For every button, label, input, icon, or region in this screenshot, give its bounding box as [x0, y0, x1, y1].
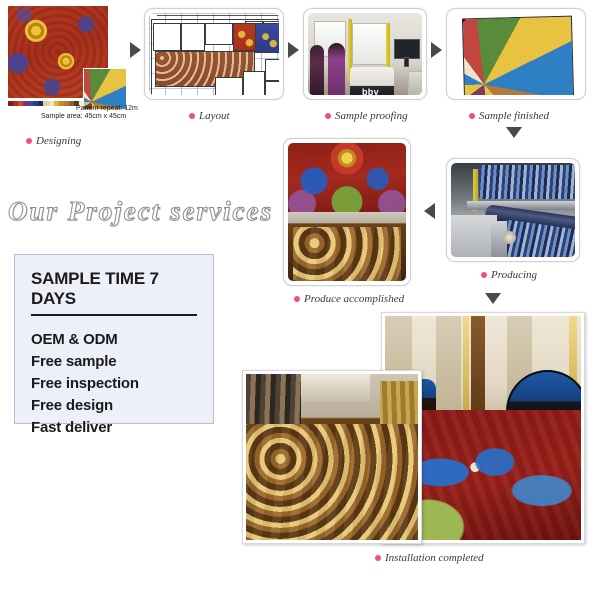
list-item: Free sample — [31, 351, 197, 373]
machine-logo-text: bby — [362, 87, 379, 95]
arrow-layout-to-sample-proofing — [288, 42, 299, 58]
carpet-corridor-photo — [288, 212, 406, 281]
bullet-dot-icon — [481, 272, 487, 278]
bullet-dot-icon — [375, 555, 381, 561]
sample-time-panel: SAMPLE TIME 7 DAYS OEM & ODM Free sample… — [14, 254, 214, 424]
list-item: Free inspection — [31, 373, 197, 395]
arrow-designing-to-layout — [130, 42, 141, 58]
photo-sample-proofing: bby — [303, 8, 427, 100]
loom-machine-photo — [451, 163, 575, 257]
color-swatch-strip — [8, 101, 84, 106]
project-services-infographic: Pattern repeat: 12m Sample area: 45cm x … — [0, 0, 600, 600]
list-item: Free design — [31, 395, 197, 417]
caption-designing: Designing — [26, 136, 81, 147]
photo-produce-accomplished — [283, 138, 411, 286]
photo-designing-swatch — [83, 68, 127, 110]
caption-sample-finished: Sample finished — [469, 111, 549, 122]
arrow-finished-to-producing — [506, 127, 522, 138]
caption-layout: Layout — [189, 111, 230, 122]
bullet-dot-icon — [325, 113, 331, 119]
bullet-dot-icon — [294, 296, 300, 302]
caption-producing: Producing — [481, 270, 537, 281]
photo-layout — [144, 8, 284, 100]
list-item: OEM & ODM — [31, 329, 197, 351]
bullet-dot-icon — [26, 138, 32, 144]
proofing-room-photo: bby — [308, 13, 422, 95]
floor-plan-drawing — [149, 13, 279, 95]
list-item: Fast deliver — [31, 417, 197, 439]
service-list: OEM & ODM Free sample Free inspection Fr… — [31, 329, 197, 439]
bullet-dot-icon — [469, 113, 475, 119]
arrow-proofing-to-finished — [431, 42, 442, 58]
page-title: Our Project services — [8, 196, 273, 227]
caption-produce-accomplished: Produce accomplished — [294, 294, 404, 305]
geometric-carpet-sample — [462, 16, 574, 95]
bullet-dot-icon — [189, 113, 195, 119]
caption-installation: Installation completed — [375, 553, 484, 564]
carpet-closeup-photo — [288, 143, 406, 212]
corridor-carpet-photo — [246, 374, 418, 540]
photo-sample-finished — [446, 8, 586, 100]
caption-sample-proofing: Sample proofing — [325, 111, 408, 122]
arrow-producing-to-installation — [485, 293, 501, 304]
photo-installation-corridor — [242, 370, 422, 544]
photo-producing — [446, 158, 580, 262]
sample-time-title: SAMPLE TIME 7 DAYS — [31, 269, 197, 316]
designing-sample-area: Sample area: 45cm x 45cm — [41, 113, 126, 122]
arrow-producing-to-accomplished — [424, 203, 435, 219]
